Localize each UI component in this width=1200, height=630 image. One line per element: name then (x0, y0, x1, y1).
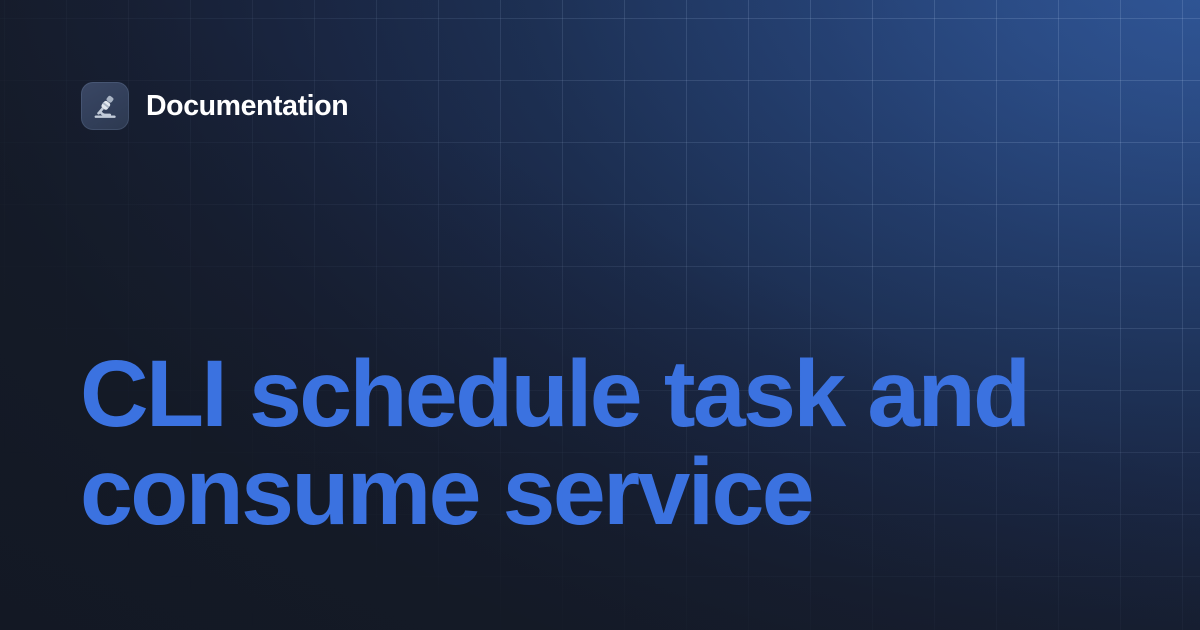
microscope-icon (90, 91, 120, 121)
site-icon-badge (81, 82, 129, 130)
og-card: Documentation CLI schedule task and cons… (0, 0, 1200, 630)
page-title: CLI schedule task and consume service (80, 345, 1090, 541)
site-name-label: Documentation (146, 92, 348, 121)
site-header: Documentation (81, 82, 348, 130)
